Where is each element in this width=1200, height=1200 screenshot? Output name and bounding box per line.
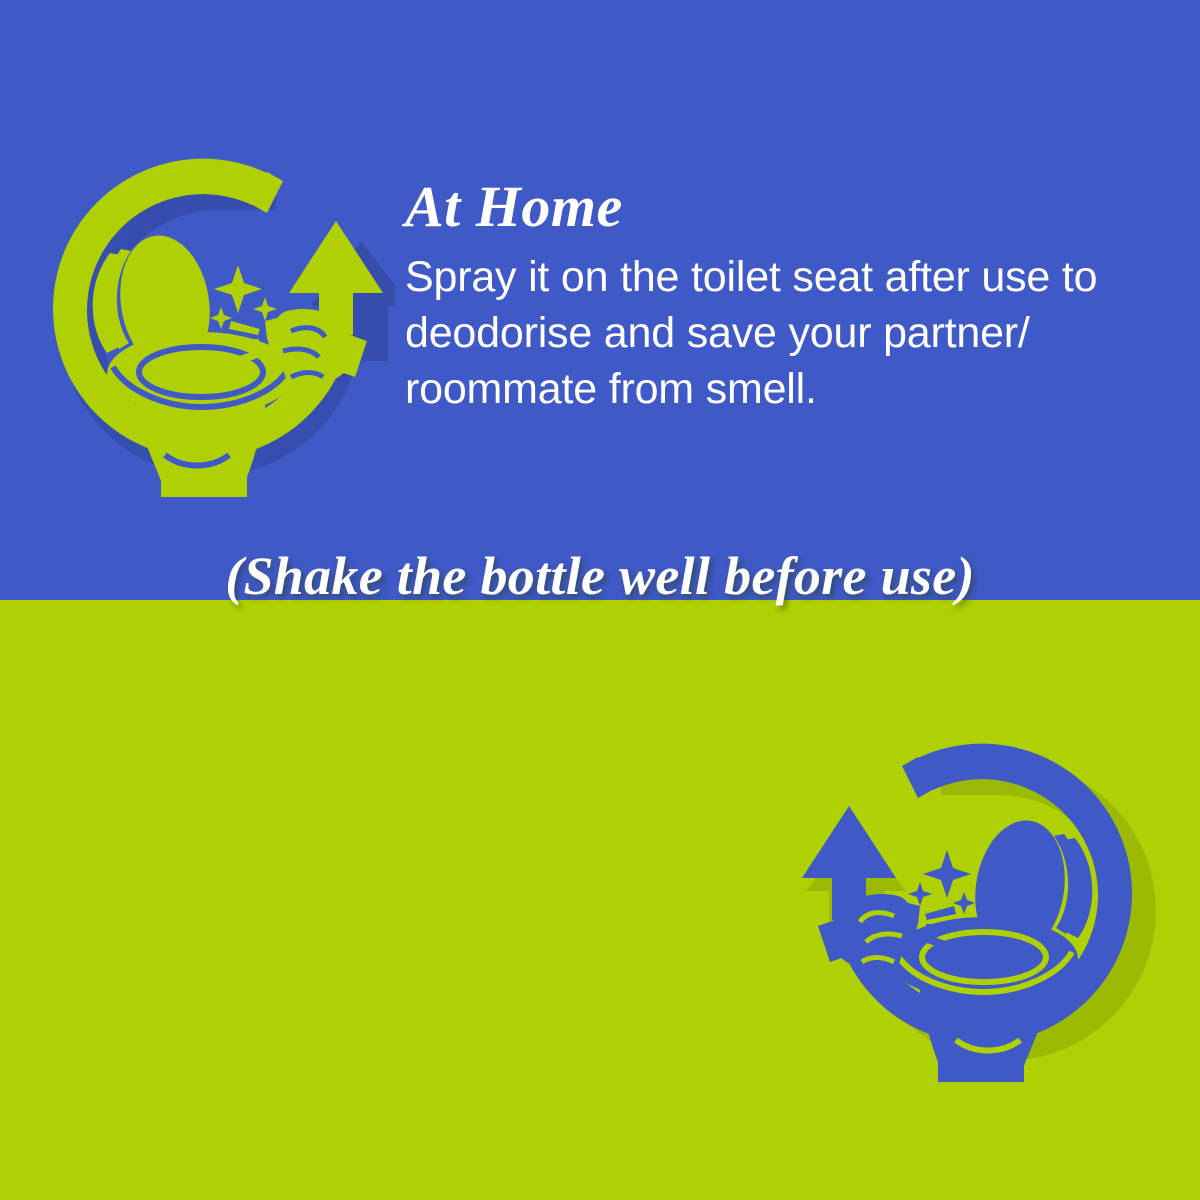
section-at-home: At Home Spray it on the toilet seat afte… (0, 0, 1200, 600)
shake-bottle-banner-text: (Shake the bottle well before use) (225, 548, 975, 605)
at-home-heading: At Home (405, 178, 1105, 236)
toilet-spray-cycle-icon-mirrored (790, 710, 1170, 1090)
shake-bottle-banner: (Shake the bottle well before use) (0, 548, 1200, 605)
at-home-text-block: At Home Spray it on the toilet seat afte… (405, 178, 1105, 418)
at-home-body: Spray it on the toilet seat after use to… (405, 250, 1105, 418)
infographic-poster: At Home Spray it on the toilet seat afte… (0, 0, 1200, 1200)
toilet-spray-cycle-icon (15, 125, 395, 505)
